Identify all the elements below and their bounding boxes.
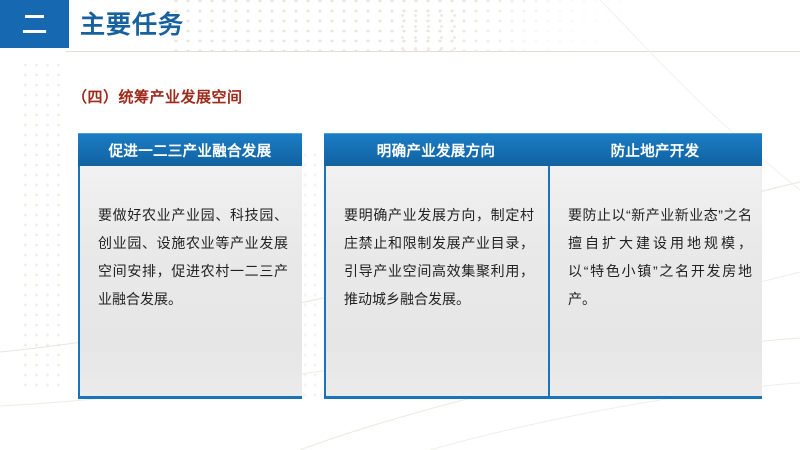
card-industry-integration: 促进一二三产业融合发展 要做好农业产业园、科技园、创业园、设施农业等产业发展空间… bbox=[78, 133, 302, 399]
card-body-text: 要做好农业产业园、科技园、创业园、设施农业等产业发展空间安排，促进农村一二三产业… bbox=[98, 201, 288, 313]
section-number-two-icon: 二 bbox=[22, 12, 47, 37]
card-industry-direction: 明确产业发展方向 要明确产业发展方向，制定村庄禁止和限制发展产业目录，引导产业空… bbox=[324, 133, 548, 399]
card-body: 要防止以“新产业新业态”之名擅自扩大建设用地规模，以“特色小镇”之名开发房地产。 bbox=[548, 166, 762, 399]
card-heading: 防止地产开发 bbox=[548, 133, 762, 166]
card-body-text: 要防止以“新产业新业态”之名擅自扩大建设用地规模，以“特色小镇”之名开发房地产。 bbox=[568, 201, 752, 313]
page-title: 主要任务 bbox=[80, 9, 184, 41]
slide-root: 二 主要任务 （四）统筹产业发展空间 促进一二三产业融合发展 要做好农业产业园、… bbox=[0, 0, 800, 450]
card-heading: 明确产业发展方向 bbox=[324, 133, 548, 166]
slide-header: 二 主要任务 bbox=[0, 0, 800, 50]
section-number-badge: 二 bbox=[0, 0, 69, 48]
section-subtitle: （四）统筹产业发展空间 bbox=[72, 86, 243, 107]
card-body: 要明确产业发展方向，制定村庄禁止和限制发展产业目录，引导产业空间高效集聚利用，推… bbox=[324, 166, 548, 399]
card-body-text: 要明确产业发展方向，制定村庄禁止和限制发展产业目录，引导产业空间高效集聚利用，推… bbox=[344, 201, 534, 313]
card-group: 促进一二三产业融合发展 要做好农业产业园、科技园、创业园、设施农业等产业发展空间… bbox=[0, 133, 800, 408]
card-heading: 促进一二三产业融合发展 bbox=[78, 133, 302, 166]
header-divider-line bbox=[66, 51, 800, 52]
card-prevent-realestate: 防止地产开发 要防止以“新产业新业态”之名擅自扩大建设用地规模，以“特色小镇”之… bbox=[548, 133, 762, 399]
card-body: 要做好农业产业园、科技园、创业园、设施农业等产业发展空间安排，促进农村一二三产业… bbox=[78, 166, 302, 399]
